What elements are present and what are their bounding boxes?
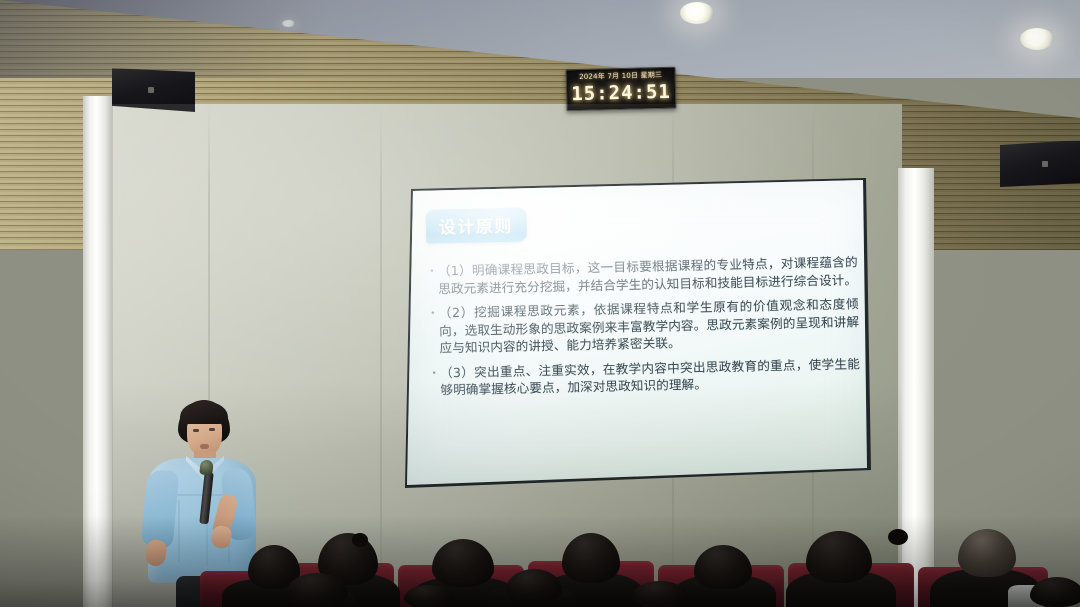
presenter-mouth: [200, 444, 209, 449]
audience-head: [286, 573, 348, 607]
audience-head: [632, 581, 688, 607]
audience-seated: [0, 515, 1080, 607]
ceiling-downlight-icon: [680, 2, 714, 24]
clock-time-text: 15:24:51: [567, 81, 676, 106]
speaker-led-icon: [148, 87, 154, 93]
audience-hair-bun: [352, 533, 368, 547]
speaker-led-icon: [1042, 161, 1048, 167]
ceiling-shadow: [0, 0, 1080, 78]
lecture-hall-photo: 2024年 7月 10日 星期三 15:24:51 设计原则 • （1）明确课程…: [0, 0, 1080, 607]
ceiling-downlight-icon: [1020, 28, 1054, 50]
audience-hair-bun: [888, 529, 908, 545]
audience-head: [694, 545, 752, 589]
presenter-fringe: [180, 402, 228, 424]
audience-head: [404, 585, 454, 607]
microphone-icon: [199, 459, 213, 475]
audience-head: [432, 539, 494, 587]
audience-head: [806, 531, 872, 583]
ceiling-downlight-icon: [282, 20, 295, 27]
audience-head: [1030, 577, 1080, 607]
presenter-eye: [209, 428, 215, 431]
audience-head: [958, 529, 1016, 577]
audience-head: [562, 533, 620, 583]
audience-head: [506, 569, 562, 603]
presenter-eye: [193, 429, 199, 432]
wall-speaker-right: [1000, 140, 1080, 187]
